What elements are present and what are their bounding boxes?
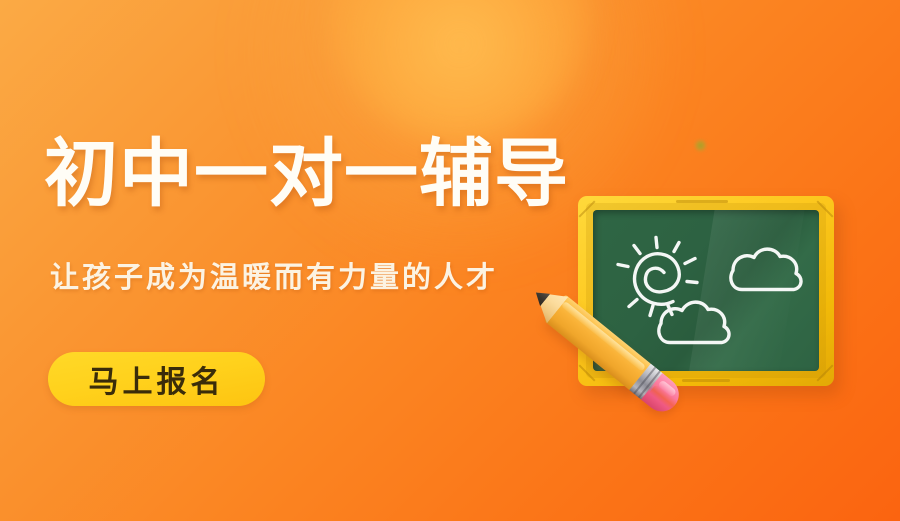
frame-notch-bottom xyxy=(682,379,730,382)
subtitle-text: 让孩子成为温暖而有力量的人才 xyxy=(50,264,498,293)
accent-dot-icon xyxy=(695,140,706,151)
sun-ray xyxy=(618,265,628,267)
cloud-large-icon xyxy=(731,249,801,289)
promo-banner: 初中一对一辅导 让孩子成为温暖而有力量的人才 马上报名 xyxy=(0,0,900,521)
sun-icon xyxy=(618,238,697,316)
sun-ray xyxy=(685,259,695,264)
sun-ray xyxy=(656,238,657,248)
signup-now-button[interactable]: 马上报名 xyxy=(48,352,265,406)
sun-ray xyxy=(687,282,697,283)
page-title: 初中一对一辅导 xyxy=(44,137,569,211)
cloud-small-icon xyxy=(659,302,729,342)
sun-ray xyxy=(650,306,653,316)
sun-ray xyxy=(634,246,640,254)
sun-ray xyxy=(674,243,679,252)
sun-ray xyxy=(629,300,637,307)
